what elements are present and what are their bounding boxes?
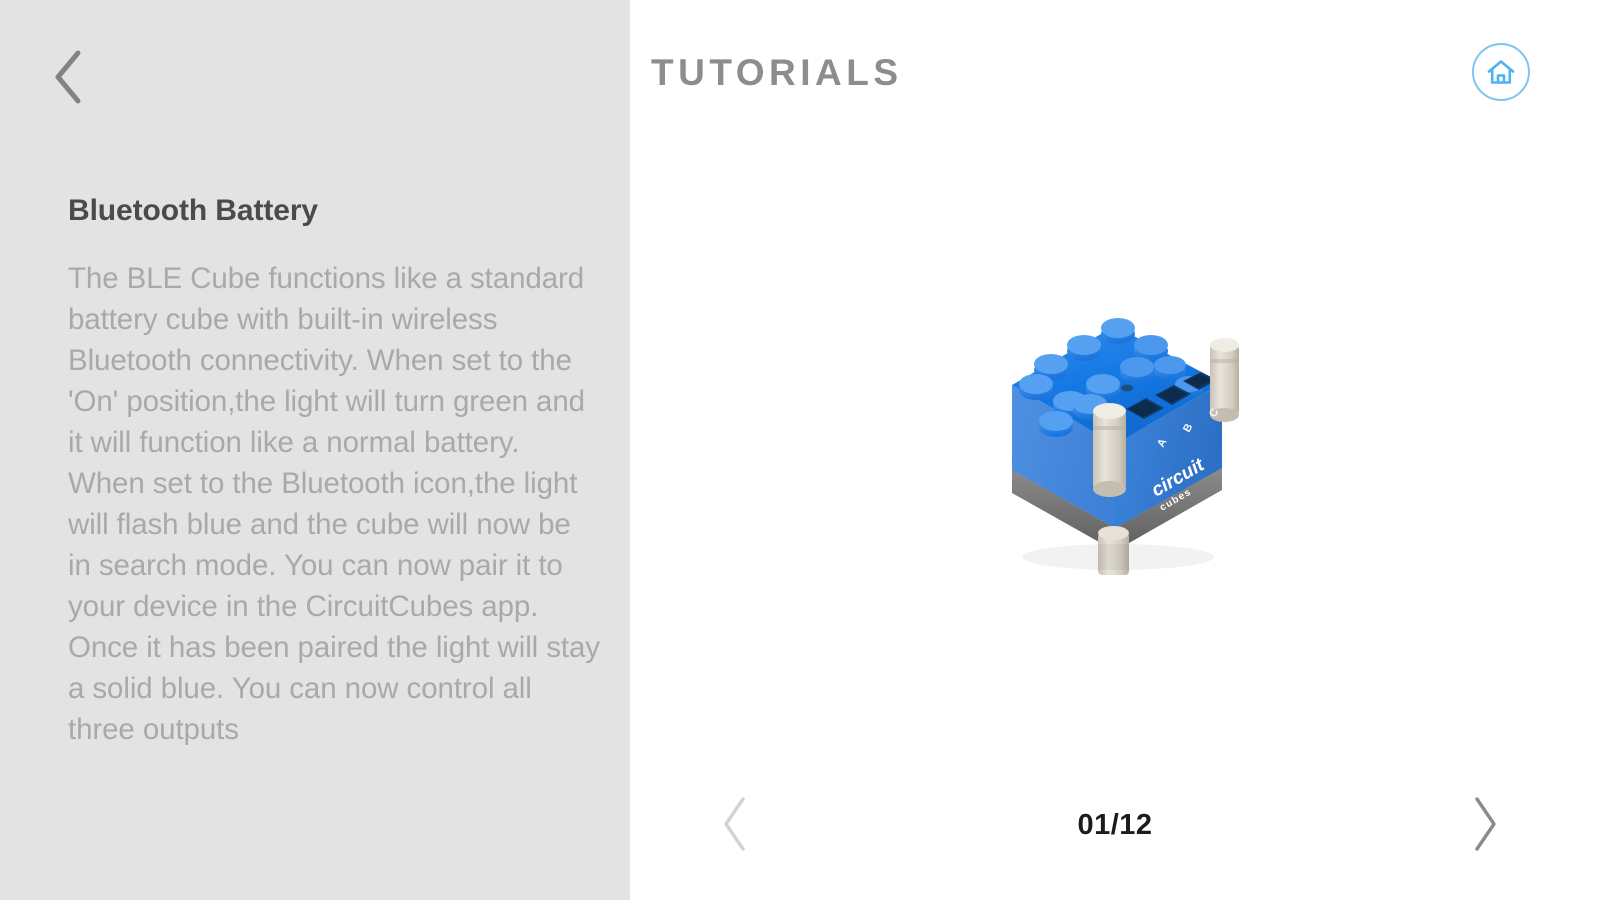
back-button[interactable] <box>40 46 98 108</box>
product-image-stage: A B C circuit cubes <box>630 120 1600 740</box>
tutorials-screen: Bluetooth Battery The BLE Cube functions… <box>0 0 1600 900</box>
tutorial-heading: Bluetooth Battery <box>68 194 588 227</box>
next-slide-button[interactable] <box>1440 770 1530 880</box>
page-title: TUTORIALS <box>651 52 903 94</box>
home-icon <box>1484 55 1518 89</box>
home-button[interactable] <box>1472 43 1530 101</box>
cube-terminal-post-front <box>1093 403 1126 497</box>
ble-cube-image: A B C circuit cubes <box>950 285 1280 575</box>
tutorial-description: The BLE Cube functions like a standard b… <box>68 258 601 750</box>
carousel-nav: 01/12 <box>630 770 1600 880</box>
chevron-left-icon <box>51 49 87 105</box>
tutorial-main-panel: TUTORIALS <box>630 0 1600 900</box>
tutorial-detail-sidebar: Bluetooth Battery The BLE Cube functions… <box>0 0 630 900</box>
chevron-right-icon <box>1470 795 1500 856</box>
